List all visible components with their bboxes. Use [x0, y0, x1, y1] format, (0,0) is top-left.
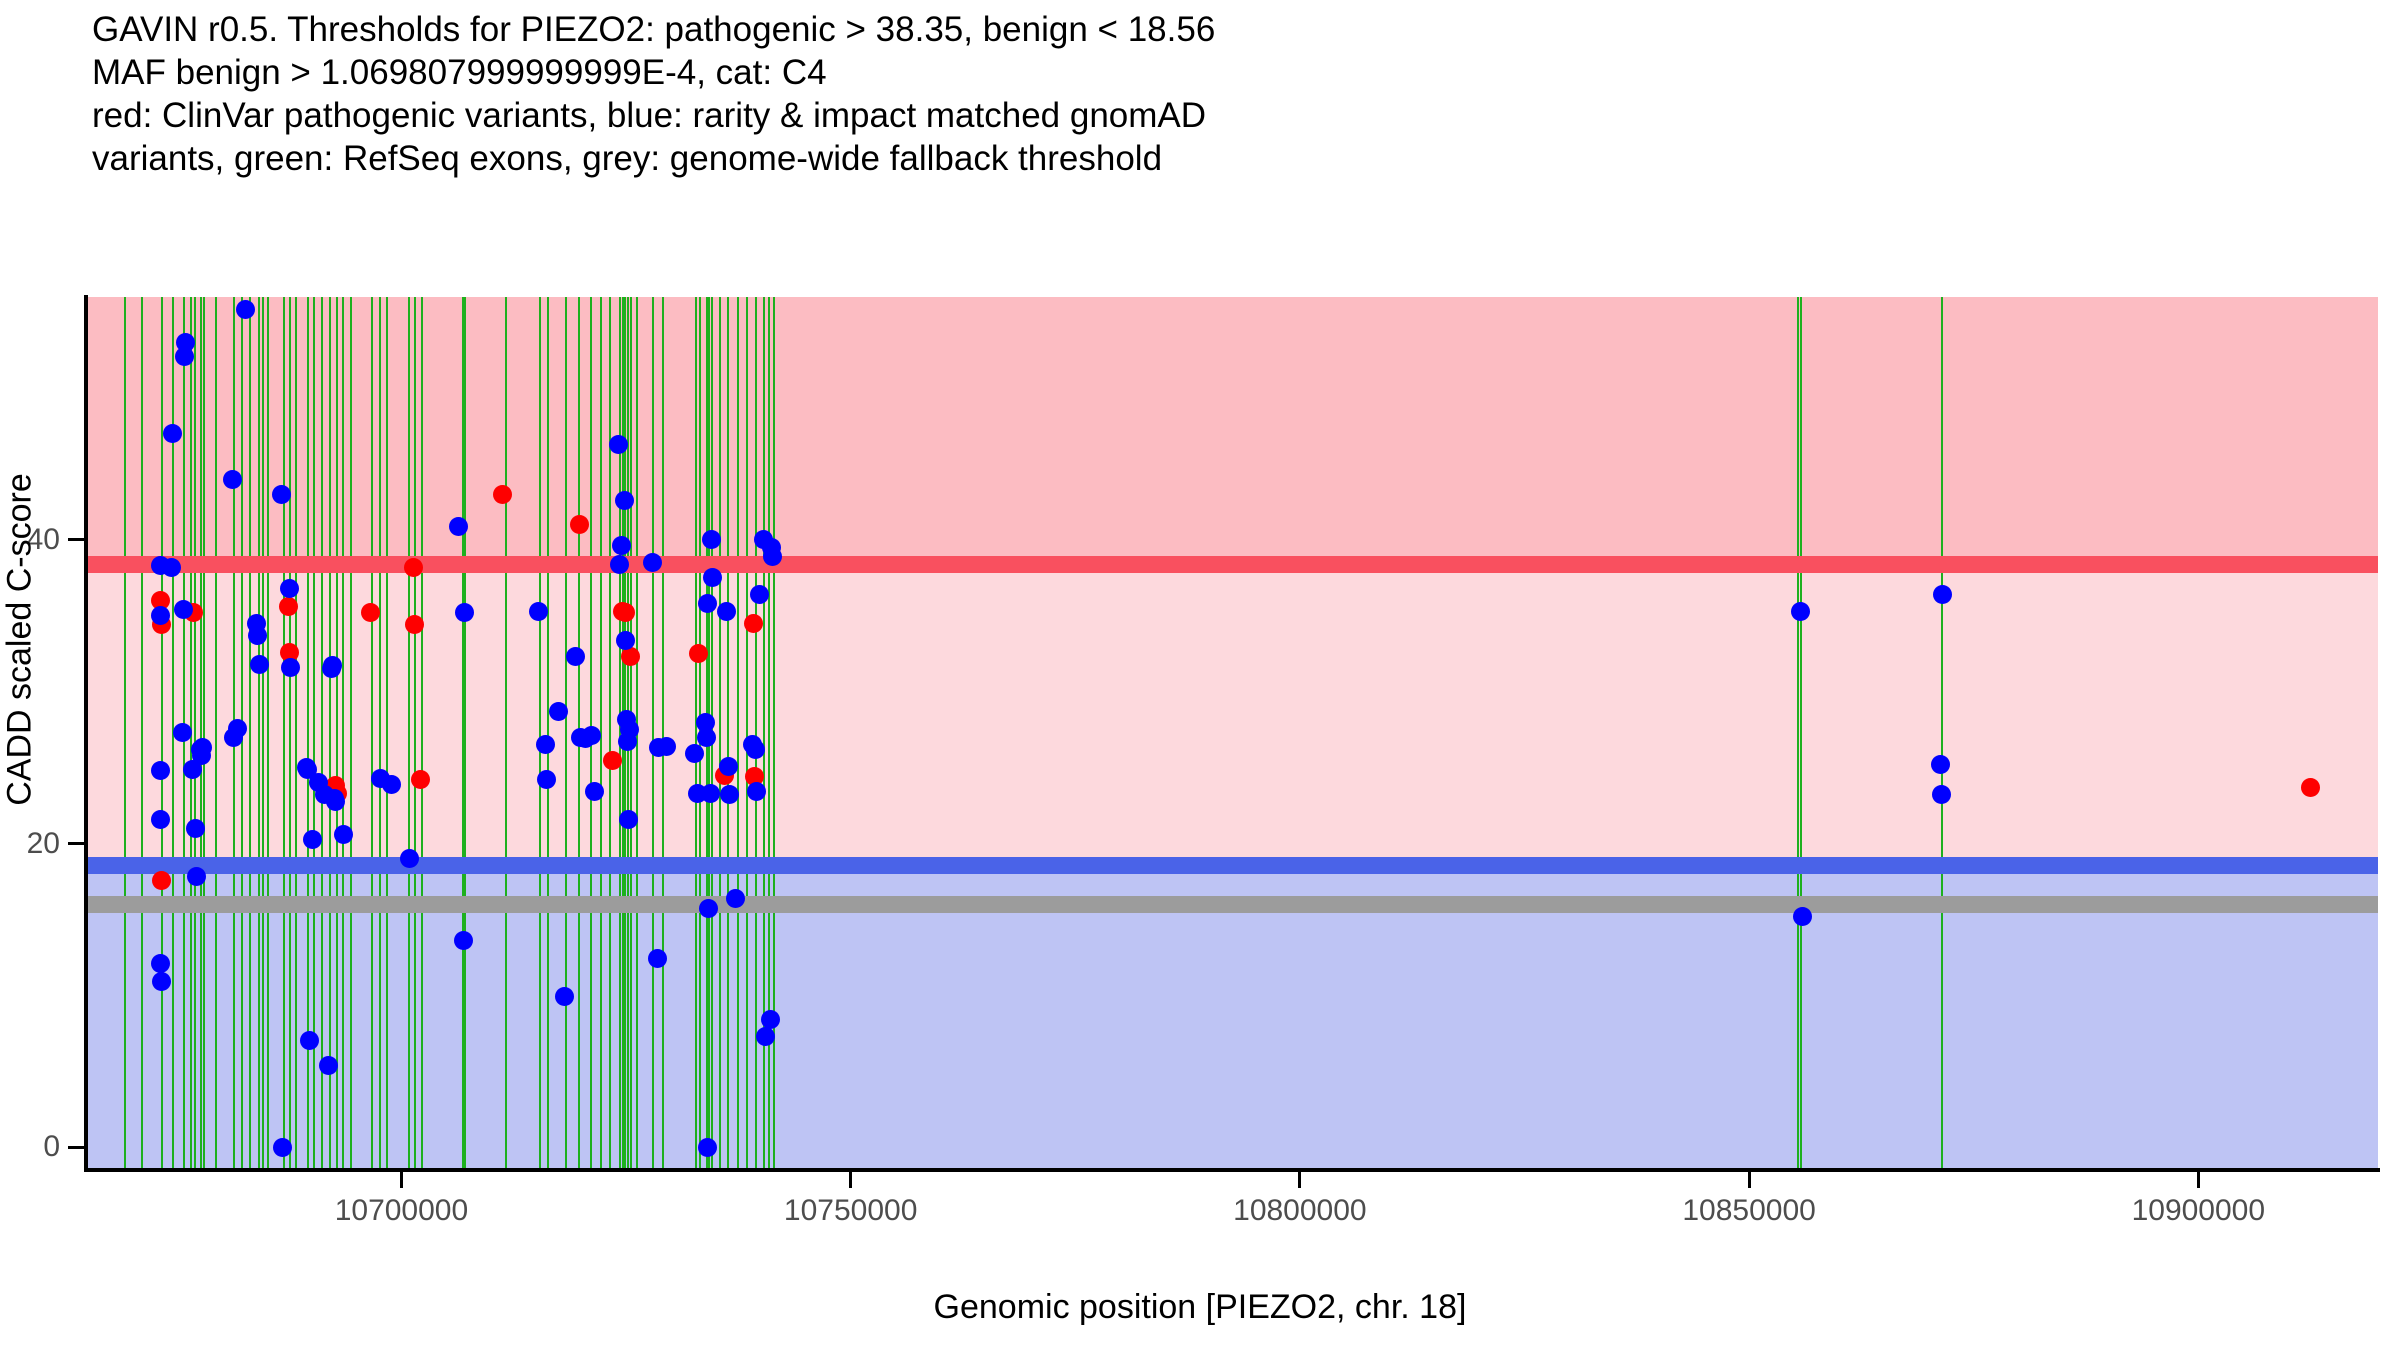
exon-line	[462, 297, 464, 1170]
gnomad-variant-point	[763, 547, 782, 566]
gnomad-variant-point	[173, 723, 192, 742]
y-tick-mark	[68, 538, 84, 541]
gnomad-variant-point	[319, 1056, 338, 1075]
gnomad-variant-point	[657, 737, 676, 756]
gnomad-variant-point	[536, 735, 555, 754]
clinvar-pathogenic-point	[404, 558, 423, 577]
exon-line	[215, 297, 217, 1170]
exon-line	[194, 297, 196, 1170]
gnomad-variant-point	[719, 757, 738, 776]
x-tick-label: 10750000	[784, 1194, 917, 1228]
gnomad-variant-point	[555, 987, 574, 1006]
exon-line	[124, 297, 126, 1170]
exon-line	[565, 297, 567, 1170]
exon-line	[539, 297, 541, 1170]
exon-line	[161, 297, 163, 1170]
pathogenic-threshold-line	[87, 556, 2378, 573]
benign-threshold-line	[87, 857, 2378, 874]
exon-line	[737, 297, 739, 1170]
gnomad-variant-point	[382, 775, 401, 794]
gnomad-variant-point	[616, 631, 635, 650]
gnomad-variant-point	[610, 555, 629, 574]
clinvar-pathogenic-point	[616, 603, 635, 622]
exon-line	[336, 297, 338, 1170]
x-tick-label: 10850000	[1682, 1194, 1815, 1228]
exon-line	[719, 297, 721, 1170]
clinvar-pathogenic-point	[411, 770, 430, 789]
exon-line	[408, 297, 410, 1170]
exon-line	[329, 297, 331, 1170]
exon-line	[547, 297, 549, 1170]
gnomad-variant-point	[455, 603, 474, 622]
gnomad-variant-point	[223, 470, 242, 489]
title-line-1: GAVIN r0.5. Thresholds for PIEZO2: patho…	[92, 8, 2292, 51]
gnomad-variant-point	[529, 602, 548, 621]
clinvar-pathogenic-point	[152, 871, 171, 890]
gnomad-variant-point	[746, 740, 765, 759]
exon-line	[1797, 297, 1799, 1170]
exon-line	[342, 297, 344, 1170]
gnomad-variant-point	[1791, 602, 1810, 621]
gnomad-variant-point	[717, 602, 736, 621]
chart-title: GAVIN r0.5. Thresholds for PIEZO2: patho…	[92, 8, 2292, 180]
exon-line	[289, 297, 291, 1170]
y-tick-label: 0	[0, 1130, 60, 1164]
x-tick-label: 10900000	[2132, 1194, 2265, 1228]
gnomad-variant-point	[250, 655, 269, 674]
title-line-4: variants, green: RefSeq exons, grey: gen…	[92, 137, 2292, 180]
gnomad-variant-point	[698, 1138, 717, 1157]
gnomad-variant-point	[281, 658, 300, 677]
exon-line	[283, 297, 285, 1170]
exon-line	[262, 297, 264, 1170]
exon-line	[1800, 297, 1802, 1170]
exon-line	[258, 297, 260, 1170]
clinvar-pathogenic-point	[405, 615, 424, 634]
exon-line	[295, 297, 297, 1170]
gnomad-variant-point	[163, 424, 182, 443]
clinvar-pathogenic-point	[570, 515, 589, 534]
x-tick-mark	[400, 1172, 403, 1188]
gnomad-variant-point	[273, 1138, 292, 1157]
x-tick-mark	[2197, 1172, 2200, 1188]
clinvar-pathogenic-point	[279, 597, 298, 616]
fallback-threshold-line	[87, 896, 2378, 913]
exon-line	[350, 297, 352, 1170]
gnomad-variant-point	[272, 485, 291, 504]
x-tick-label: 10700000	[335, 1194, 468, 1228]
exon-line	[249, 297, 251, 1170]
gnomad-variant-point	[1931, 755, 1950, 774]
gnomad-variant-point	[615, 491, 634, 510]
vus-region	[87, 565, 2378, 865]
gnomad-variant-point	[151, 810, 170, 829]
gnomad-variant-point	[609, 435, 628, 454]
gnomad-variant-point	[162, 558, 181, 577]
pathogenic-region	[87, 297, 2378, 565]
clinvar-pathogenic-point	[2301, 778, 2320, 797]
gnomad-variant-point	[1793, 907, 1812, 926]
y-tick-mark	[68, 842, 84, 845]
gnomad-variant-point	[236, 300, 255, 319]
gnomad-variant-point	[174, 600, 193, 619]
gnomad-variant-point	[1933, 585, 1952, 604]
exon-line	[414, 297, 416, 1170]
gnomad-variant-point	[697, 728, 716, 747]
y-tick-mark	[68, 1146, 84, 1149]
exon-line	[200, 297, 202, 1170]
exon-line	[421, 297, 423, 1170]
exon-line	[662, 297, 664, 1170]
x-tick-label: 10800000	[1233, 1194, 1366, 1228]
clinvar-pathogenic-point	[603, 751, 622, 770]
x-tick-mark	[1748, 1172, 1751, 1188]
exon-line	[379, 297, 381, 1170]
gnomad-variant-point	[186, 819, 205, 838]
exon-line	[505, 297, 507, 1170]
exon-line	[746, 297, 748, 1170]
x-tick-mark	[849, 1172, 852, 1188]
gnomad-variant-point	[326, 792, 345, 811]
gnomad-variant-point	[619, 810, 638, 829]
plot-panel	[87, 297, 2378, 1170]
exon-line	[727, 297, 729, 1170]
exon-line	[321, 297, 323, 1170]
gnomad-variant-point	[756, 1027, 775, 1046]
exon-line	[203, 297, 205, 1170]
gnomad-variant-point	[449, 517, 468, 536]
exon-line	[267, 297, 269, 1170]
title-line-2: MAF benign > 1.069807999999999E-4, cat: …	[92, 51, 2292, 94]
exon-line	[141, 297, 143, 1170]
gnomad-variant-point	[701, 784, 720, 803]
gnomad-variant-point	[726, 889, 745, 908]
gnomad-variant-point	[280, 579, 299, 598]
title-line-3: red: ClinVar pathogenic variants, blue: …	[92, 94, 2292, 137]
x-axis-label: Genomic position [PIEZO2, chr. 18]	[0, 1288, 2400, 1327]
gnomad-variant-point	[643, 553, 662, 572]
exon-line	[371, 297, 373, 1170]
exon-line	[386, 297, 388, 1170]
exon-line	[1941, 297, 1943, 1170]
exon-line	[652, 297, 654, 1170]
chart-root: GAVIN r0.5. Thresholds for PIEZO2: patho…	[0, 0, 2400, 1350]
x-tick-mark	[1298, 1172, 1301, 1188]
y-axis-line	[84, 295, 88, 1172]
gnomad-variant-point	[228, 719, 247, 738]
clinvar-pathogenic-point	[744, 614, 763, 633]
gnomad-variant-point	[582, 726, 601, 745]
exon-line	[609, 297, 611, 1170]
x-axis-line	[84, 1168, 2380, 1172]
y-axis-label: CADD scaled C-score	[1, 290, 40, 990]
gnomad-variant-point	[303, 830, 322, 849]
exon-line	[464, 297, 466, 1170]
